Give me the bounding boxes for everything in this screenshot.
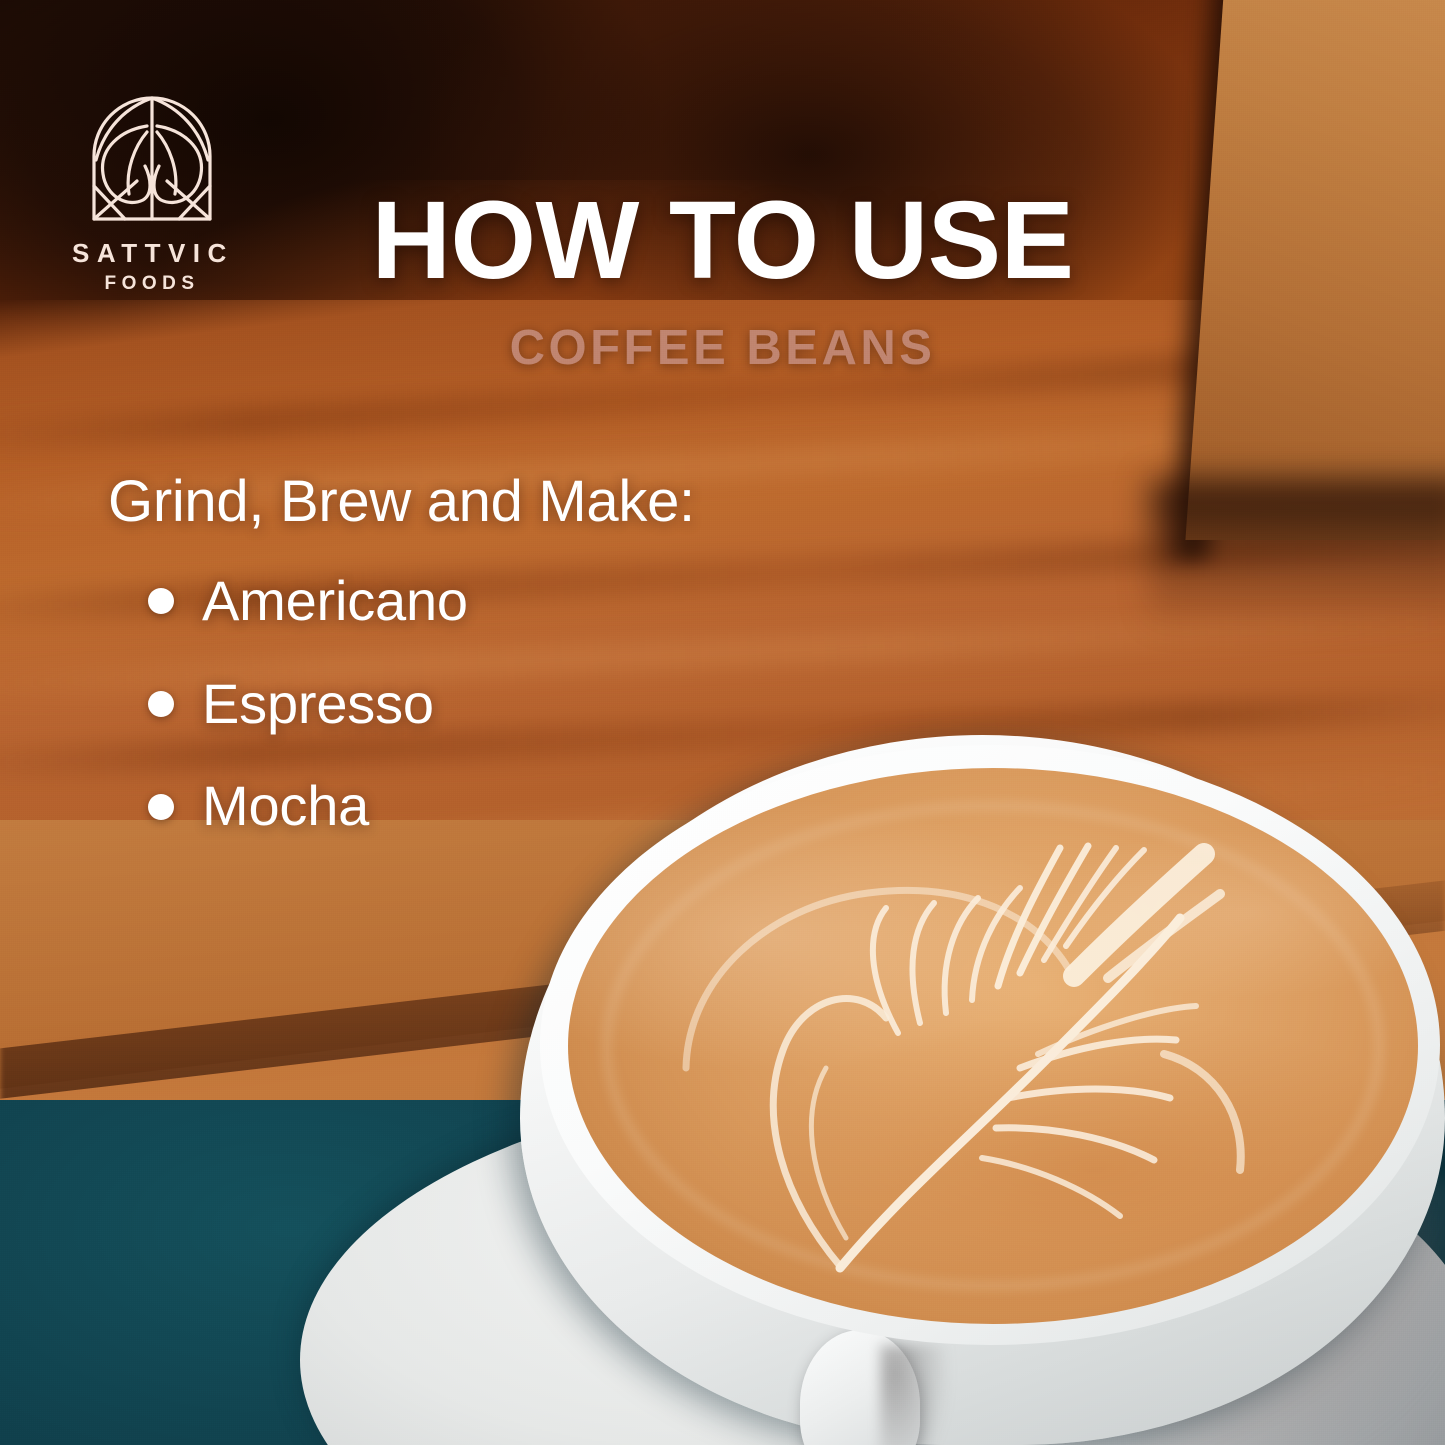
bullet-dot-icon	[148, 588, 174, 614]
list-item: Mocha	[108, 777, 928, 836]
list-item-label: Americano	[202, 572, 468, 631]
poster-canvas: SATTVIC FOODS HOW TO USE COFFEE BEANS Gr…	[0, 0, 1445, 1445]
instructions-lead: Grind, Brew and Make:	[108, 470, 928, 534]
bullet-dot-icon	[148, 794, 174, 820]
page-title: HOW TO USE	[0, 186, 1445, 296]
beverage-list: Americano Espresso Mocha	[108, 572, 928, 836]
wood-block-under-shadow	[1150, 480, 1445, 630]
page-subtitle: COFFEE BEANS	[0, 324, 1445, 373]
list-item: Espresso	[108, 675, 928, 734]
bullet-dot-icon	[148, 691, 174, 717]
cup-handle-shadow	[880, 1345, 950, 1445]
list-item: Americano	[108, 572, 928, 631]
instructions-block: Grind, Brew and Make: Americano Espresso…	[108, 470, 928, 880]
list-item-label: Mocha	[202, 777, 369, 836]
list-item-label: Espresso	[202, 675, 434, 734]
